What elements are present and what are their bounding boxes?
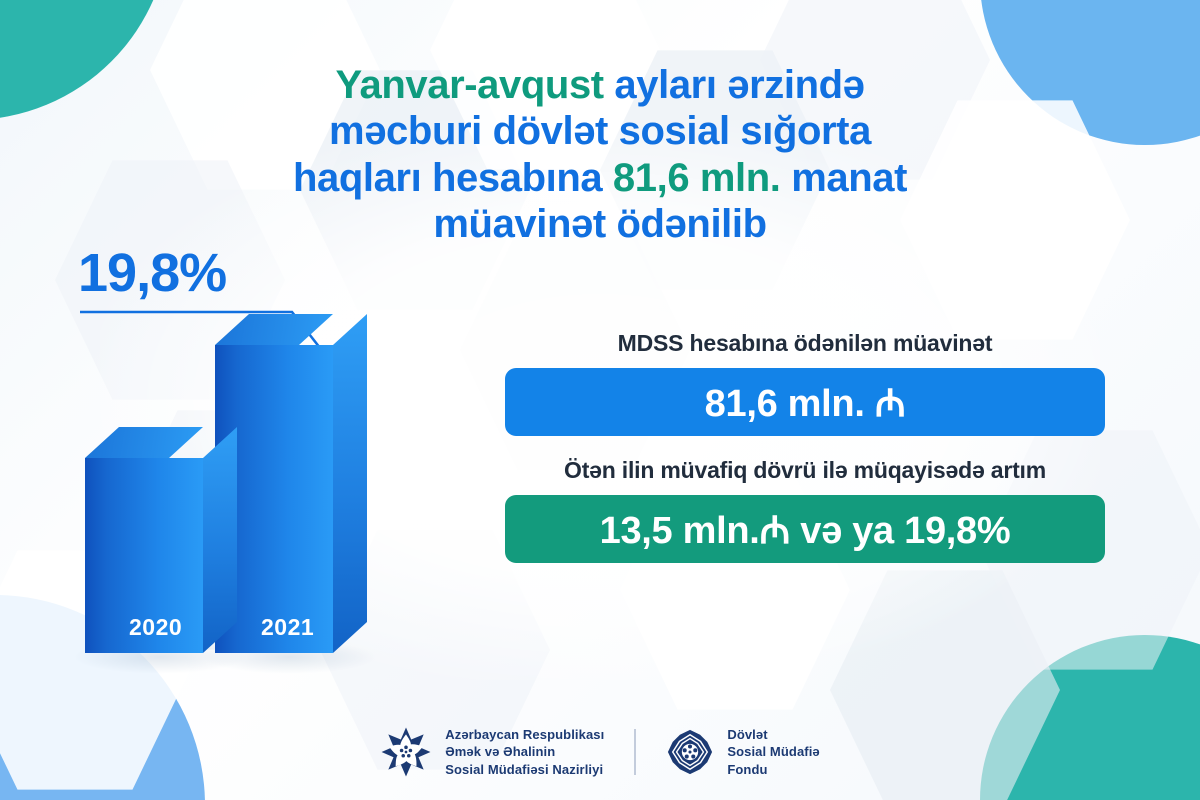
footer-org-fund: Dövlət Sosial Müdafiə Fondu bbox=[666, 726, 819, 777]
title-highlight-amount: 81,6 mln. bbox=[613, 156, 781, 200]
footer-org-fund-name: Dövlət Sosial Müdafiə Fondu bbox=[727, 726, 819, 777]
stat-heading-growth: Ötən ilin müvafiq dövrü ilə müqayisədə a… bbox=[455, 457, 1155, 484]
bar-chart: 19,8% 2021 2020 bbox=[0, 240, 470, 660]
title-line-1: Yanvar-avqust ayları ərzində bbox=[110, 62, 1090, 108]
title-line-1-rest: ayları ərzində bbox=[604, 63, 865, 107]
infographic-poster: Yanvar-avqust ayları ərzində məcburi döv… bbox=[0, 0, 1200, 800]
title-line-2: məcburi dövlət sosial sığorta bbox=[110, 108, 1090, 154]
bar-2020: 2020 bbox=[85, 458, 203, 653]
title-line-3: haqları hesabına 81,6 mln. manat bbox=[110, 155, 1090, 201]
bar-2020-side-face bbox=[203, 427, 237, 653]
footer-divider bbox=[634, 729, 636, 775]
eight-point-star-emblem-icon bbox=[380, 726, 432, 778]
footer-org-ministry-name: Azərbaycan Respublikası Əmək və Əhalinin… bbox=[445, 726, 604, 777]
title-highlight-period: Yanvar-avqust bbox=[335, 63, 603, 107]
stats-panel: MDSS hesabına ödənilən müavinət 81,6 mln… bbox=[455, 330, 1155, 563]
footer: Azərbaycan Respublikası Əmək və Əhalinin… bbox=[0, 726, 1200, 778]
bar-2021-side-face bbox=[333, 314, 367, 653]
page-title: Yanvar-avqust ayları ərzində məcburi döv… bbox=[110, 62, 1090, 248]
bar-2021-label: 2021 bbox=[261, 614, 314, 641]
title-line-3-post: manat bbox=[781, 156, 908, 200]
octagon-rosette-emblem-icon bbox=[666, 728, 714, 776]
title-line-3-pre: haqları hesabına bbox=[293, 156, 613, 200]
stat-value-total: 81,6 mln. ₼ bbox=[505, 368, 1105, 436]
stat-heading-total: MDSS hesabına ödənilən müavinət bbox=[455, 330, 1155, 357]
bar-2020-label: 2020 bbox=[129, 614, 182, 641]
footer-org-ministry: Azərbaycan Respublikası Əmək və Əhalinin… bbox=[380, 726, 604, 778]
stat-value-growth: 13,5 mln.₼ və ya 19,8% bbox=[505, 495, 1105, 563]
bar-2020-top-face bbox=[85, 427, 203, 458]
